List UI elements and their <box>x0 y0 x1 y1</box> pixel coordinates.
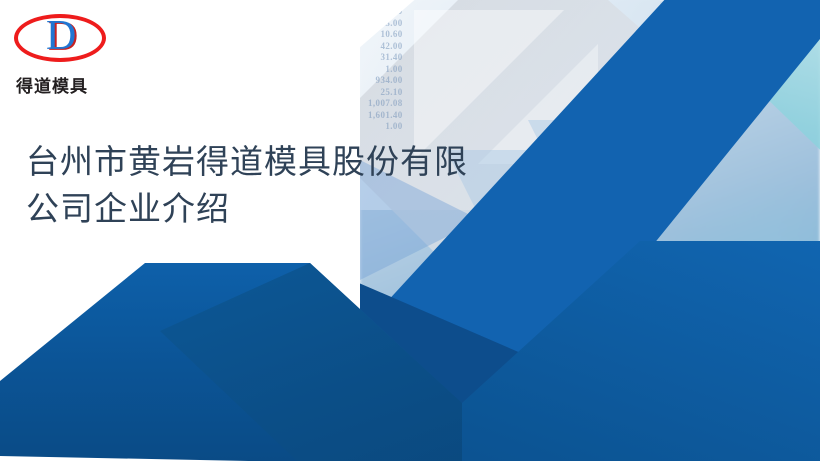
financial-number-cell <box>758 396 794 408</box>
financial-number-cell: 1,082.50 <box>653 335 689 347</box>
financial-number-cell: 40.10 <box>758 275 794 287</box>
financial-number-cell <box>653 263 689 275</box>
financial-number-cell: 37.03 <box>705 372 741 384</box>
financial-number-cell: 304.20 <box>653 408 689 420</box>
financial-number-cell: 213.30 <box>705 384 741 396</box>
financial-number-cell: 0.00 <box>705 335 741 347</box>
financial-number-cell <box>653 287 689 299</box>
financial-number-cell: 851.50 <box>758 287 794 299</box>
financial-number-cell <box>758 323 794 335</box>
financial-number-cell: 850.00 <box>705 287 741 299</box>
financial-number-cell <box>758 348 794 360</box>
financial-number-cell: 1,728.00 <box>705 323 741 335</box>
financial-number-cell: 67.00 <box>705 299 741 311</box>
page-title: 台州市黄岩得道模具股份有限公司企业介绍 <box>26 140 496 234</box>
financial-number-cell: 592.20 <box>653 348 689 360</box>
financial-number-cell <box>758 360 794 372</box>
logo-company-short-name: 得道模具 <box>8 72 128 97</box>
financial-number-cell <box>653 275 689 287</box>
financial-number-cell <box>758 335 794 347</box>
financial-number-cell <box>758 408 794 420</box>
financial-number-cell: 1,272.00 <box>705 421 741 433</box>
financial-number-cell <box>758 384 794 396</box>
financial-numbers-bottom: 42.6040.0040.10850.00851.506.967.0070.00… <box>653 238 794 457</box>
logo-letter-d: D <box>46 14 76 58</box>
financial-number-cell: 96.10 <box>705 396 741 408</box>
company-logo: D 得道模具 <box>8 8 128 104</box>
financial-number-cell: 17.11 <box>653 372 689 384</box>
financial-number-cell <box>758 372 794 384</box>
financial-number-cell: 42.60 <box>705 263 741 275</box>
logo-mark: D <box>8 8 118 70</box>
financial-number-grid: 42.6040.0040.10850.00851.506.967.0070.00… <box>653 263 794 433</box>
financial-number-cell: 303.10 <box>653 384 689 396</box>
financial-number-cell: 302.00 <box>653 396 689 408</box>
financial-number-cell: 17.03 <box>653 421 689 433</box>
financial-number-cell <box>758 263 794 275</box>
financial-number-cell <box>758 421 794 433</box>
financial-number-cell: 4,973.00 <box>705 348 741 360</box>
financial-number-cell: 64.20 <box>653 311 689 323</box>
financial-number-cell: 3,289.00 <box>705 360 741 372</box>
financial-number-cell: 40.00 <box>705 275 741 287</box>
financial-number-cell: 6.9 <box>653 299 689 311</box>
financial-number-cell: 70.00 <box>758 299 794 311</box>
financial-number-cell: 0.00 <box>653 360 689 372</box>
presentation-slide: 6.90 923.00 10.60 42.00 31.40 1.00 934.0… <box>0 0 820 461</box>
financial-number-cell: 302.60 <box>705 408 741 420</box>
financial-number-cell: 1,318.00 <box>705 311 741 323</box>
financial-number-cell: 272.00 <box>653 323 689 335</box>
financial-number-cell: 1,420.00 <box>758 311 794 323</box>
